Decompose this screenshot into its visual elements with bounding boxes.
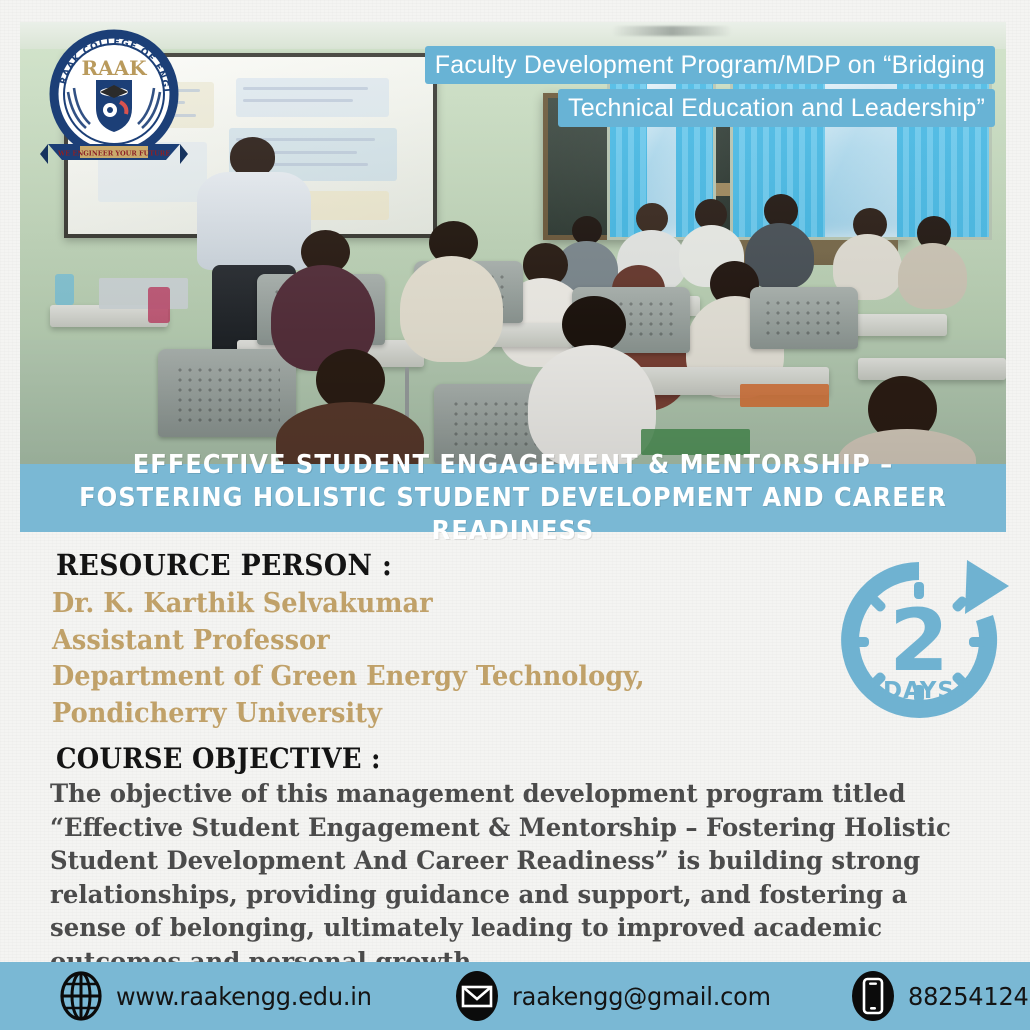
event-photo: RAAK COLLEGE OF ENGINEERING & TECHNOLOGY… (20, 22, 1006, 464)
svg-text:WE ENGINEER YOUR FUTURE: WE ENGINEER YOUR FUTURE (57, 150, 170, 158)
mobile-phone-icon (850, 970, 896, 1022)
ceiling-fan (612, 26, 732, 36)
course-objective-body: The objective of this management develop… (50, 778, 978, 979)
raak-college-logo: RAAK COLLEGE OF ENGINEERING & TECHNOLOGY… (34, 26, 194, 181)
presenter-body (197, 172, 310, 269)
course-objective-heading: COURSE OBJECTIVE : (56, 742, 381, 775)
footer-email-item[interactable]: raakengg@gmail.com (454, 970, 782, 1022)
presenter-head (230, 137, 275, 177)
globe-icon (58, 970, 104, 1022)
resource-person-department: Department of Green Energy Technology, (52, 659, 717, 696)
poster-root: RAAK COLLEGE OF ENGINEERING & TECHNOLOGY… (0, 0, 1030, 1030)
resource-person-heading: RESOURCE PERSON : (56, 548, 392, 582)
resource-person-name: Dr. K. Karthik Selvakumar (52, 586, 717, 623)
program-title-text: EFFECTIVE STUDENT ENGAGEMENT & MENTORSHI… (55, 449, 972, 548)
footer-phone-item[interactable]: 8825412450 (850, 970, 1030, 1022)
header-caption: Faculty Development Program/MDP on “Brid… (350, 44, 995, 130)
resource-person-details: Dr. K. Karthik Selvakumar Assistant Prof… (52, 586, 717, 732)
footer-phone-text: 8825412450 (908, 982, 1030, 1011)
contact-footer: www.raakengg.edu.in raakengg@gmail.com (0, 962, 1030, 1030)
footer-website-text: www.raakengg.edu.in (116, 982, 372, 1011)
duration-unit: DAYS (883, 678, 955, 704)
duration-number: 2 (889, 591, 949, 691)
footer-website-item[interactable]: www.raakengg.edu.in (58, 970, 382, 1022)
resource-person-institution: Pondicherry University (52, 696, 717, 733)
envelope-icon (454, 970, 500, 1022)
resource-person-designation: Assistant Professor (52, 623, 717, 660)
svg-text:RAAK: RAAK (81, 56, 147, 80)
header-caption-text: Faculty Development Program/MDP on “Brid… (425, 46, 995, 127)
program-title-bar: EFFECTIVE STUDENT ENGAGEMENT & MENTORSHI… (20, 464, 1006, 532)
duration-badge: 2 DAYS (828, 552, 1010, 732)
footer-email-text: raakengg@gmail.com (512, 982, 771, 1011)
